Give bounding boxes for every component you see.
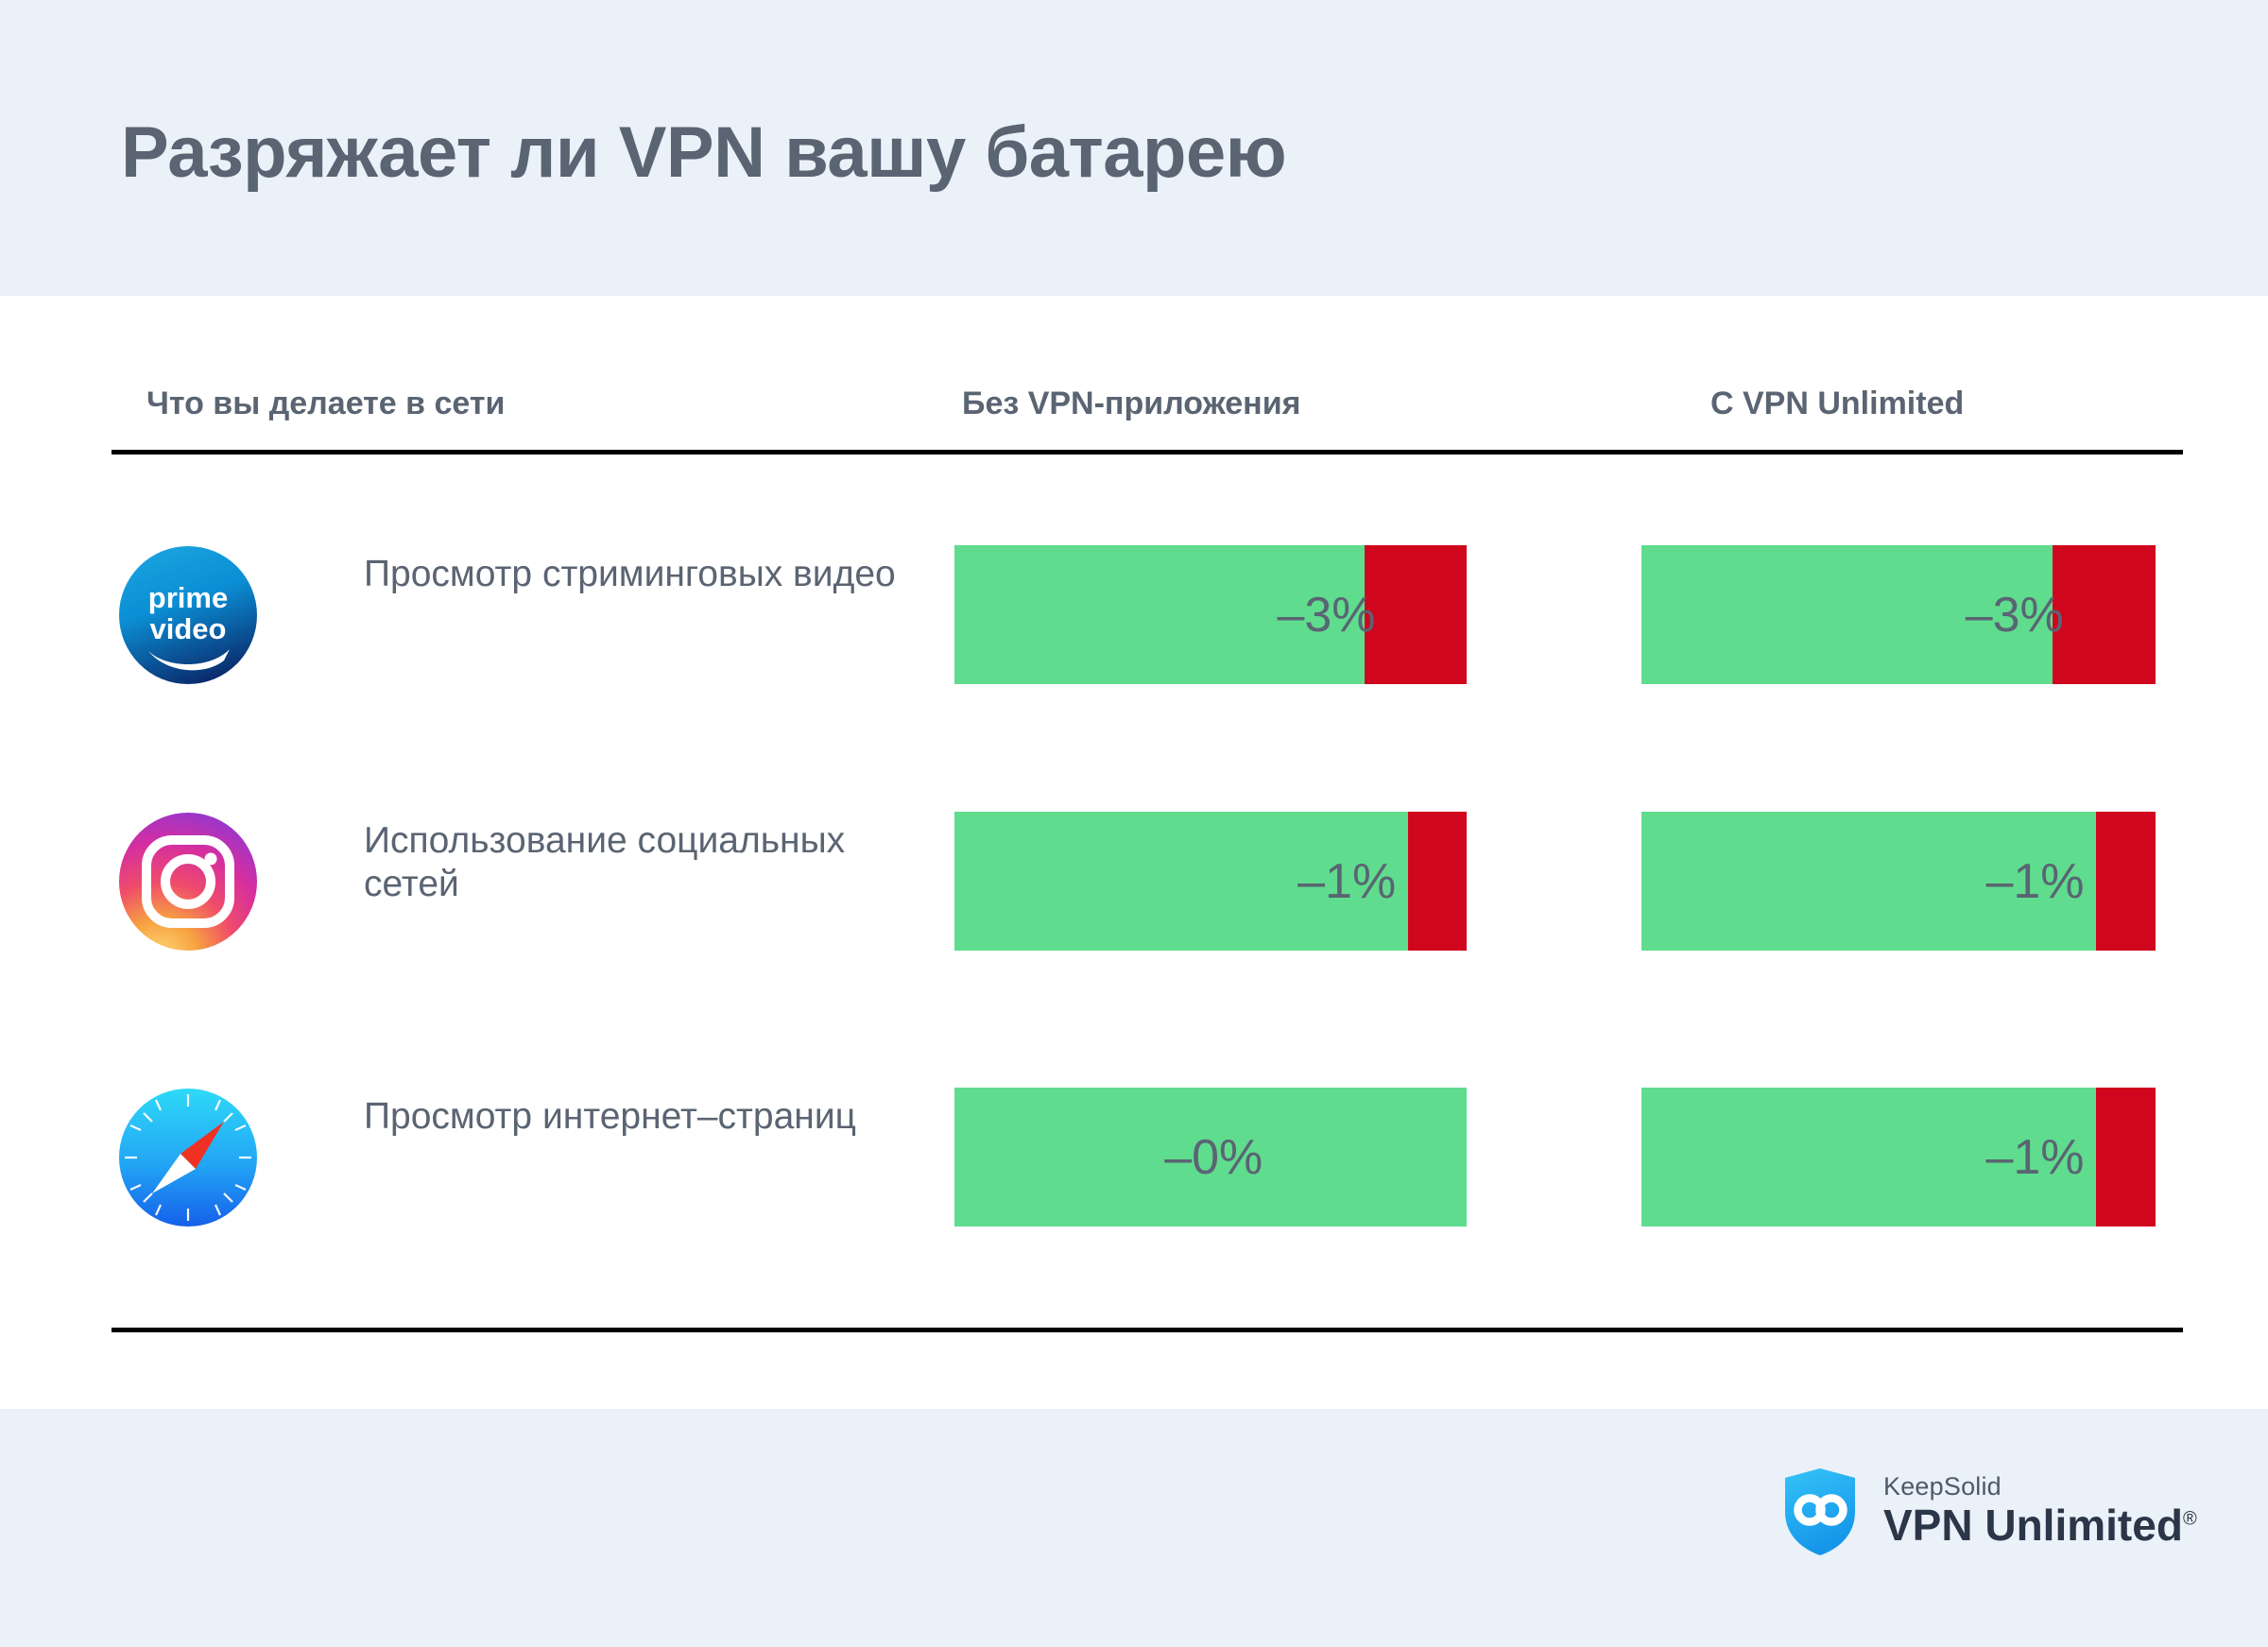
bar-value-label: –0% xyxy=(1164,1129,1263,1186)
safari-icon xyxy=(118,1088,258,1227)
bar-value-label: –3% xyxy=(1966,587,2064,643)
column-header-with-vpn: С VPN Unlimited xyxy=(1710,386,1964,422)
instagram-icon xyxy=(118,812,258,952)
brand-logo: KeepSolid VPN Unlimited® xyxy=(1781,1467,2197,1557)
registered-mark: ® xyxy=(2183,1509,2197,1530)
column-header-activity: Что вы делаете в сети xyxy=(146,386,505,422)
row-activity-label: Просмотр интернет–страниц xyxy=(364,1095,912,1139)
bar-red-segment xyxy=(2096,812,2156,951)
brand-text: KeepSolid VPN Unlimited® xyxy=(1883,1473,2197,1550)
bar-red-segment xyxy=(1408,812,1467,951)
bar-red-segment xyxy=(2053,545,2156,684)
svg-text:video: video xyxy=(150,612,227,645)
bar-with-vpn: –1% xyxy=(1641,1088,2156,1227)
table-row: Использование социальных сетей –1% –1% xyxy=(0,812,2268,952)
footer-band: KeepSolid VPN Unlimited® xyxy=(0,1409,2268,1647)
bar-red-segment xyxy=(2096,1088,2156,1227)
bar-without-vpn: –1% xyxy=(954,812,1467,951)
bar-with-vpn: –1% xyxy=(1641,812,2156,951)
shield-icon xyxy=(1781,1467,1859,1557)
row-activity-label: Использование социальных сетей xyxy=(364,819,912,906)
brand-name-vpn-unlimited: VPN Unlimited® xyxy=(1883,1501,2197,1551)
column-header-without-vpn: Без VPN-приложения xyxy=(962,386,1300,422)
header-band: Разряжает ли VPN вашу батарею xyxy=(0,0,2268,296)
row-activity-label: Просмотр стриминговых видео xyxy=(364,553,912,596)
svg-text:prime: prime xyxy=(148,581,228,614)
prime-video-icon: prime video xyxy=(118,545,258,685)
table-row: prime video Просмотр стриминговых видео … xyxy=(0,545,2268,685)
brand-product-name: VPN Unlimited xyxy=(1883,1501,2183,1550)
table-rule-bottom xyxy=(112,1328,2183,1332)
table-row: Просмотр интернет–страниц –0% –1% xyxy=(0,1088,2268,1227)
bar-without-vpn: –0% xyxy=(954,1088,1467,1227)
bar-red-segment xyxy=(1365,545,1467,684)
bar-value-label: –3% xyxy=(1277,587,1375,643)
bar-with-vpn: –3% xyxy=(1641,545,2156,684)
bar-value-label: –1% xyxy=(1297,853,1396,910)
bar-without-vpn: –3% xyxy=(954,545,1467,684)
page-title: Разряжает ли VPN вашу батарею xyxy=(121,112,1286,194)
comparison-table: Что вы делаете в сети Без VPN-приложения… xyxy=(0,296,2268,1409)
brand-name-keepsolid: KeepSolid xyxy=(1883,1472,2002,1501)
bar-value-label: –1% xyxy=(1985,853,2084,910)
table-rule-top xyxy=(112,450,2183,455)
bar-value-label: –1% xyxy=(1985,1129,2084,1186)
